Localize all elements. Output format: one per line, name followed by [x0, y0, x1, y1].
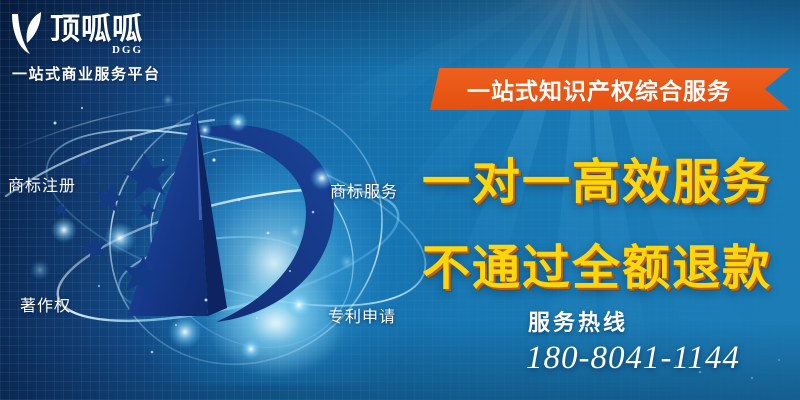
promo-headline-primary: 一对一高效服务	[422, 142, 772, 212]
promo-ribbon: 一站式知识产权综合服务	[430, 68, 790, 110]
brand-logo[interactable]: 顶呱呱 DGG 一站式商业服务平台	[8, 8, 198, 84]
service-label-trademark-service[interactable]: 商标服务	[330, 178, 398, 202]
service-label-patent-application[interactable]: 专利申请	[328, 303, 396, 327]
service-label-copyright[interactable]: 著作权	[20, 292, 71, 316]
promo-column: 一站式知识产权综合服务 一对一高效服务 不通过全额退款 服务热线 180-804…	[418, 0, 800, 400]
brand-name-cn: 顶呱呱	[50, 13, 143, 47]
service-label-trademark-registration[interactable]: 商标注册	[8, 172, 76, 196]
hotline-number[interactable]: 180-8041-1144	[526, 340, 740, 377]
promotional-banner: 顶呱呱 DGG 一站式商业服务平台 商标注册 著作权 商标服务 专利申请 一站式…	[0, 0, 800, 400]
ribbon-label: 一站式知识产权综合服务	[430, 68, 790, 110]
leaf-v-mark-icon	[8, 10, 48, 56]
hotline-label: 服务热线	[528, 305, 628, 337]
logo-row: 顶呱呱 DGG	[8, 8, 198, 56]
logo-wordmark: 顶呱呱 DGG	[50, 13, 143, 56]
brand-tagline: 一站式商业服务平台	[12, 63, 198, 84]
promo-headline-secondary: 不通过全额退款	[422, 228, 772, 298]
